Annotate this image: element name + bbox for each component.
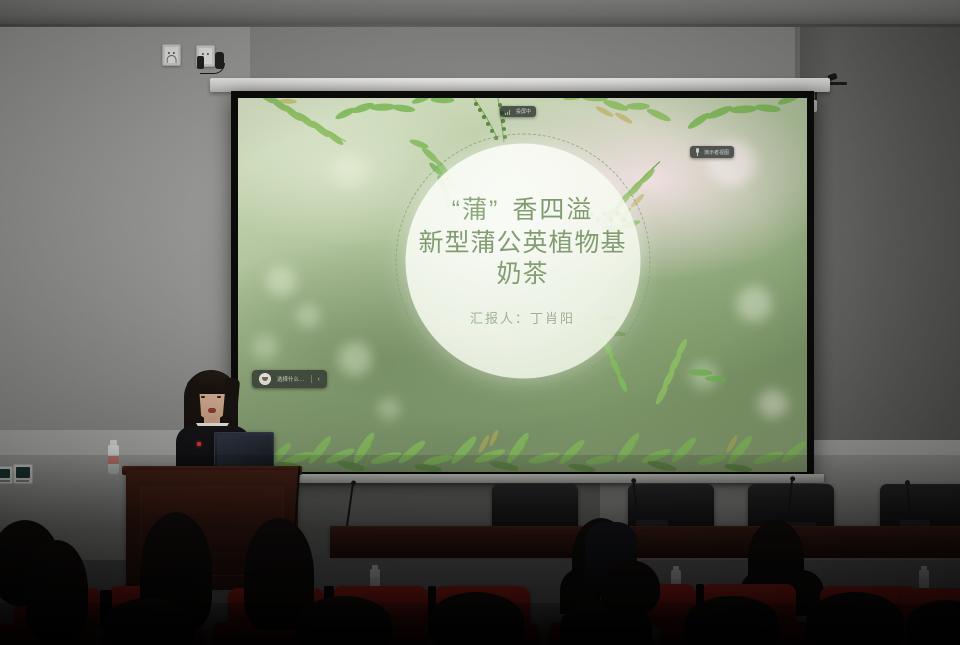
slide-title-quoted: “蒲” [452,196,500,224]
bokeh-blob [338,342,372,376]
power-outlet-left [162,44,181,66]
ceiling [0,0,960,26]
ceiling-trim [0,24,960,27]
lecture-hall-photo: “蒲”香四溢 新型蒲公英植物基 奶茶 汇报人：丁肖阳 投屏中 演示者视图 选择什… [0,0,960,645]
chevron-left-icon[interactable]: ‹ [318,376,320,383]
slide-title-block: “蒲”香四溢 新型蒲公英植物基 奶茶 汇报人：丁肖阳 [373,195,673,327]
presenter-eye-right [217,396,221,398]
bokeh-blob [330,154,370,188]
slide-title-line-1: “蒲”香四溢 [373,195,673,226]
projection-screen-frame: “蒲”香四溢 新型蒲公英植物基 奶茶 汇报人：丁肖阳 投屏中 演示者视图 选择什… [231,91,814,479]
slide-presenter-label: 汇报人：丁肖阳 [373,311,673,327]
presentation-slide: “蒲”香四溢 新型蒲公英植物基 奶茶 汇报人：丁肖阳 投屏中 演示者视图 选择什… [238,98,807,472]
microphone-icon [695,148,700,156]
leaf-border-bottom [238,404,807,472]
wall-control-plate-2 [13,464,33,484]
slide-title-rest: 香四溢 [512,196,593,224]
judge-chair [492,484,578,532]
slide-mini-toolbar[interactable]: 选择什么… ‹ [252,370,327,388]
screen-sharing-toast-label: 投屏中 [516,108,531,115]
bokeh-blob [266,266,296,296]
presenter-view-toast[interactable]: 演示者视图 [690,146,734,158]
podium-water-bottle [108,440,119,474]
leaf-decoration [332,98,466,143]
slide-title-line-3: 奶茶 [373,259,673,290]
user-avatar-icon [259,373,271,385]
projection-screen-housing [210,78,830,92]
leaf-decoration [555,98,681,148]
wall-control-plate-1 [0,466,13,484]
signal-bars-icon [505,108,512,115]
presenter-eye-left [201,396,205,398]
bokeh-blob [296,304,320,328]
screen-sharing-toast[interactable]: 投屏中 [500,106,536,117]
judges-table [330,528,960,558]
slide-title-line-2: 新型蒲公英植物基 [373,228,673,259]
presenter-view-toast-label: 演示者视图 [704,149,729,156]
laptop-screen [217,435,271,468]
presenter-badge [197,442,201,446]
projection-screen-bottom-bar [224,474,824,483]
mini-toolbar-label: 选择什么… [277,375,305,383]
presenter-mouth [208,408,216,413]
foreground-blur [0,603,960,645]
toolbar-divider [311,375,312,383]
bokeh-blob [736,286,772,322]
bokeh-blob [252,334,278,360]
